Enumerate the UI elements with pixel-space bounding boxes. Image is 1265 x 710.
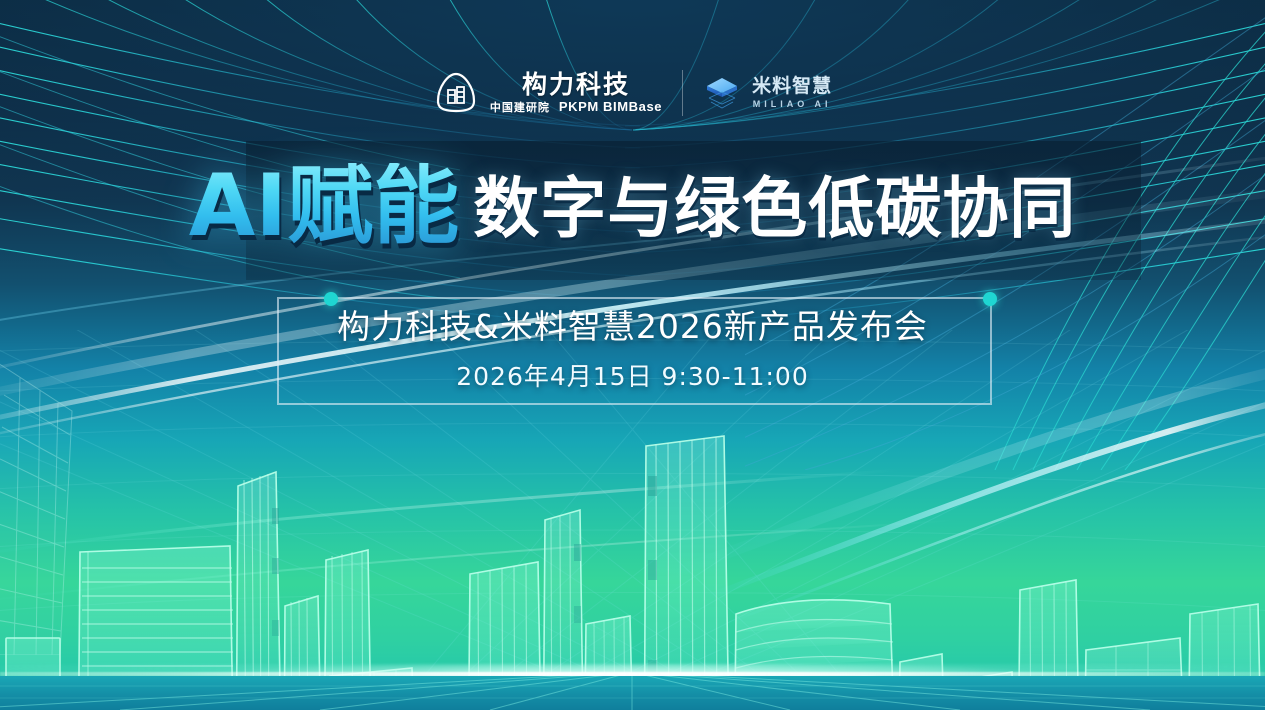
pkpm-shield-building-icon	[433, 71, 479, 115]
horizon-glow	[0, 664, 1265, 690]
event-datetime: 2026年4月15日 9:30-11:00	[0, 357, 1265, 393]
headline-highlight: AI赋能	[189, 163, 474, 249]
headline: AI赋能 数字与绿色低碳协同	[0, 163, 1265, 249]
miliao-english-name: MILIAO AI	[753, 99, 832, 109]
city-skyline-decoration	[0, 410, 1265, 710]
pkpm-sub-row: 中国建研院 PKPM BIMBase	[490, 99, 662, 115]
left-ghost-tower-decoration	[0, 355, 230, 655]
pkpm-english-name: PKPM BIMBase	[559, 99, 662, 114]
miliao-logo-texts: 米料智慧 MILIAO AI	[752, 77, 832, 109]
logo-divider	[682, 70, 683, 116]
pkpm-chinese-name: 构力科技	[522, 72, 630, 97]
logo-bar: 构力科技 中国建研院 PKPM BIMBase	[0, 70, 1265, 116]
miliao-cube-icon	[703, 74, 741, 112]
pkpm-logo-texts: 构力科技 中国建研院 PKPM BIMBase	[490, 72, 662, 115]
miliao-logo: 米料智慧 MILIAO AI	[703, 74, 832, 112]
pkpm-institute-name: 中国建研院	[490, 99, 550, 115]
event-poster: 构力科技 中国建研院 PKPM BIMBase	[0, 0, 1265, 710]
horizon-glow-line	[0, 672, 1265, 676]
pkpm-logo: 构力科技 中国建研院 PKPM BIMBase	[433, 71, 662, 115]
headline-rest: 数字与绿色低碳协同	[473, 176, 1076, 242]
event-subtitle: 构力科技&米料智慧2026新产品发布会	[0, 300, 1265, 348]
miliao-chinese-name: 米料智慧	[752, 77, 832, 96]
ground-plane	[0, 676, 1265, 710]
